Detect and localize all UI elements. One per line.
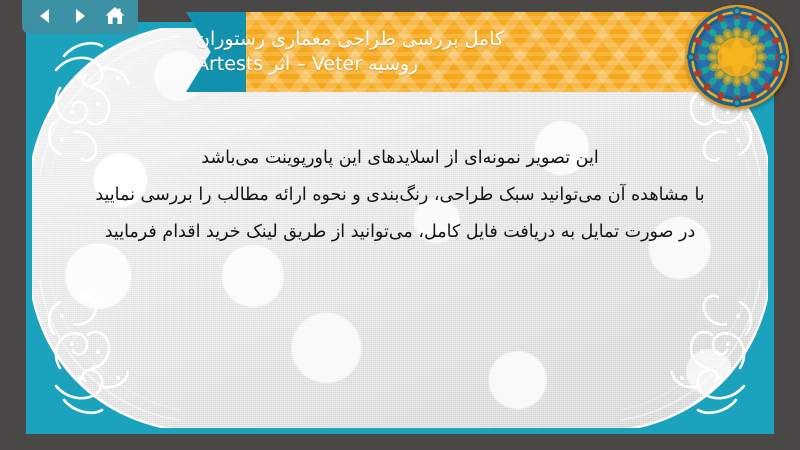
back-button[interactable]	[31, 3, 59, 29]
body-line-1: این تصویر نمونه‌ای از اسلایدهای این پاور…	[62, 140, 738, 177]
slide-viewer: این تصویر نمونه‌ای از اسلایدهای این پاور…	[0, 0, 800, 450]
islamic-rosette-icon	[684, 4, 790, 110]
navigation-bar	[22, 0, 138, 34]
slide-body-text: این تصویر نمونه‌ای از اسلایدهای این پاور…	[62, 140, 738, 251]
home-icon	[104, 6, 126, 26]
forward-button[interactable]	[66, 3, 94, 29]
banner-title-line-2: روسیه Veter – اثر Artests	[196, 52, 418, 77]
body-line-3: در صورت تمایل به دریافت فایل کامل، می‌تو…	[62, 214, 738, 251]
banner-text-block: کامل بررسی طراحی معماری رستوران روسیه Ve…	[186, 12, 761, 92]
banner-title-line-1: کامل بررسی طراحی معماری رستوران	[196, 27, 504, 52]
forward-icon	[70, 6, 90, 26]
body-line-2: با مشاهده آن می‌توانید سبک طراحی، رنگ‌بن…	[62, 177, 738, 214]
home-button[interactable]	[101, 3, 129, 29]
title-banner: کامل بررسی طراحی معماری رستوران روسیه Ve…	[186, 12, 761, 92]
back-icon	[35, 6, 55, 26]
